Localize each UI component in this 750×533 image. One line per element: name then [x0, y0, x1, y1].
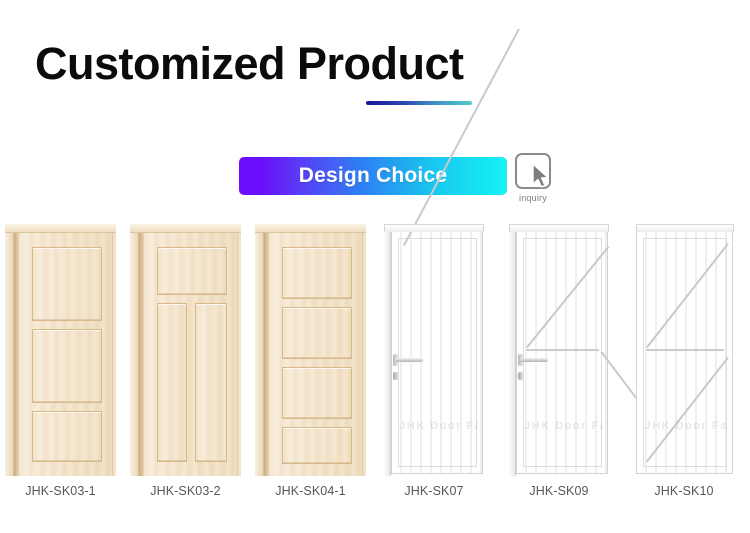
door-diagonal-brace-upper [526, 246, 609, 348]
product-showcase-page: Customized Product Design Choice inquiry [0, 0, 750, 533]
door-jamb [255, 224, 264, 476]
door-jamb-shadow [264, 233, 269, 476]
door-inner-border [398, 238, 477, 467]
door-head-frame [5, 224, 116, 233]
title-underline-rule [366, 101, 472, 105]
door-image-jhk-sk03-2 [130, 224, 241, 476]
door-panel [32, 411, 102, 462]
door-jamb [5, 224, 14, 476]
product-card[interactable]: JHK Door Factory JHK-SK10 [632, 224, 736, 476]
product-code-label: JHK-SK10 [632, 484, 736, 498]
door-image-jhk-sk04-1 [255, 224, 366, 476]
product-code-label: JHK-SK07 [382, 484, 486, 498]
product-card[interactable]: JHK-SK04-1 [255, 224, 366, 476]
page-title: Customized Product [35, 38, 464, 90]
door-panel [282, 367, 352, 419]
door-panel [282, 427, 352, 464]
door-jamb [509, 230, 516, 476]
door-panel [32, 247, 102, 321]
door-inner-border [523, 238, 602, 467]
door-image-jhk-sk03-1 [5, 224, 116, 476]
door-head-frame [384, 224, 484, 232]
door-head-frame [636, 224, 734, 232]
door-slab: JHK Door Factory [516, 231, 608, 474]
product-card[interactable]: JHK Door Factory JHK-SK09 [507, 224, 611, 476]
design-choice-banner[interactable]: Design Choice [239, 157, 507, 195]
product-card[interactable]: JHK-SK03-1 [5, 224, 116, 476]
door-slab [19, 233, 113, 476]
door-diagonal-brace-upper [646, 243, 729, 348]
image-watermark: JHK Door Factory [524, 420, 602, 432]
design-choice-label: Design Choice [299, 164, 447, 188]
door-panel [195, 303, 227, 462]
product-card[interactable]: JHK-SK03-2 [130, 224, 241, 476]
inquiry-label: inquiry [512, 193, 554, 203]
door-panel [32, 329, 102, 403]
door-jamb-shadow [14, 233, 19, 476]
inquiry-button[interactable]: inquiry [512, 153, 554, 203]
door-inner-border [643, 238, 727, 467]
door-panel [157, 247, 227, 295]
inquiry-box [515, 153, 551, 189]
door-slab: JHK Door Factory [391, 231, 483, 474]
door-keyhole [518, 372, 523, 380]
product-code-label: JHK-SK09 [507, 484, 611, 498]
door-image-jhk-sk09: JHK Door Factory [507, 224, 611, 476]
door-head-frame [509, 224, 609, 232]
door-slab: JHK Door Factory [636, 231, 733, 474]
door-jamb-shadow [139, 233, 144, 476]
door-panel [282, 247, 352, 299]
door-head-frame [130, 224, 241, 233]
door-slab [144, 233, 238, 476]
door-head-frame [255, 224, 366, 233]
door-slab [269, 233, 363, 476]
product-code-label: JHK-SK03-1 [5, 484, 116, 498]
door-lever-handle [395, 358, 423, 362]
image-watermark: JHK Door Factory [399, 420, 477, 432]
door-diagonal-brace-lower [646, 357, 729, 462]
door-keyhole [393, 372, 398, 380]
door-lever-handle [520, 358, 548, 362]
product-code-label: JHK-SK04-1 [255, 484, 366, 498]
door-image-jhk-sk07: JHK Door Factory [382, 224, 486, 476]
product-grid: JHK-SK03-1 JHK-SK03-2 [0, 224, 750, 479]
image-watermark: JHK Door Factory [645, 420, 728, 432]
door-jamb [130, 224, 139, 476]
door-horizontal-brace [526, 349, 599, 351]
door-image-jhk-sk10: JHK Door Factory [632, 224, 736, 476]
product-code-label: JHK-SK03-2 [130, 484, 241, 498]
door-jamb [384, 230, 391, 476]
door-panel [282, 307, 352, 359]
product-card[interactable]: JHK Door Factory JHK-SK07 [382, 224, 486, 476]
door-panel [157, 303, 187, 462]
cursor-pointer-icon [531, 163, 553, 189]
door-horizontal-brace [646, 349, 724, 351]
